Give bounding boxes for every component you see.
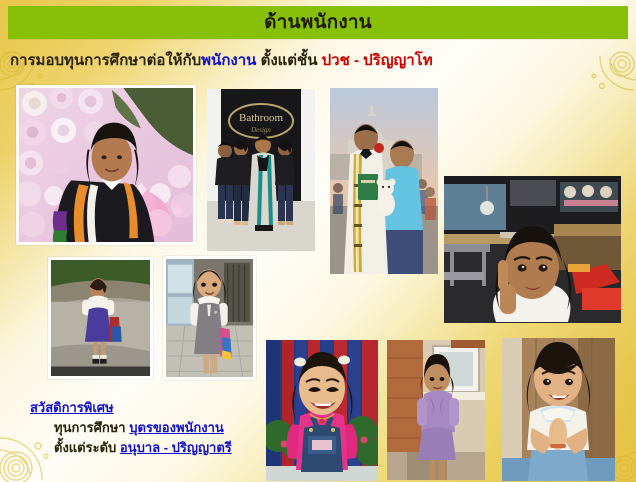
caption-line-scholarship: ทุนการศึกษา บุตรของพนักงาน — [30, 421, 232, 434]
subtitle-segment-3: ตั้งแต่ชั้น — [256, 52, 321, 69]
subtitle-line: การมอบทุนการศึกษาต่อให้กับพนักงาน ตั้งแต… — [10, 53, 433, 70]
photo-group-at-bathroom-sign: Bathroom Design — [207, 89, 315, 251]
photo-graduate-with-mother-outdoors — [330, 88, 438, 274]
caption-line-2-link[interactable]: อนุบาล - ปริญญาตรี — [120, 440, 232, 455]
subtitle-segment-levels: ปวช - ปริญญาโท — [322, 52, 433, 69]
subtitle-segment-employee: พนักงาน — [201, 52, 256, 69]
caption-heading-row: สวัสดิการพิเศษ — [30, 401, 232, 414]
caption-heading[interactable]: สวัสดิการพิเศษ — [30, 400, 114, 415]
page-title: ด้านพนักงาน — [264, 13, 372, 32]
caption-line-levels: ตั้งแต่ระดับ อนุบาล - ปริญญาตรี — [30, 441, 232, 454]
photo-girl-wai-greeting-uniform — [502, 338, 615, 481]
photo-graduate-with-pink-bouquet — [16, 85, 196, 245]
photo-girl-pink-shirt-denim-overalls — [266, 340, 378, 481]
svg-text:Bathroom: Bathroom — [239, 112, 283, 124]
caption-line-1-link[interactable]: บุตรของพนักงาน — [129, 420, 224, 435]
caption-line-2-prefix: ตั้งแต่ระดับ — [54, 440, 120, 455]
slide-title-band: ด้านพนักงาน — [8, 6, 628, 39]
slide-canvas: ด้านพนักงาน การมอบทุนการศึกษาต่อให้กับพน… — [0, 0, 636, 482]
subtitle-segment-1: การมอบทุนการศึกษาต่อให้กับ — [10, 52, 201, 69]
photo-girl-thumbs-up-classroom — [444, 176, 621, 323]
corner-swirl-ornament-icon — [584, 46, 636, 102]
welfare-caption-block: สวัสดิการพิเศษ ทุนการศึกษา บุตรของพนักงา… — [30, 401, 232, 461]
caption-line-1-prefix: ทุนการศึกษา — [54, 420, 129, 435]
photo-schoolgirl-grey-pinafore-corridor — [163, 256, 256, 380]
svg-text:Design: Design — [250, 126, 271, 134]
photo-girl-purple-outfit-doorway — [387, 340, 485, 480]
photo-schoolgirl-purple-pinafore-outdoors — [48, 257, 153, 379]
